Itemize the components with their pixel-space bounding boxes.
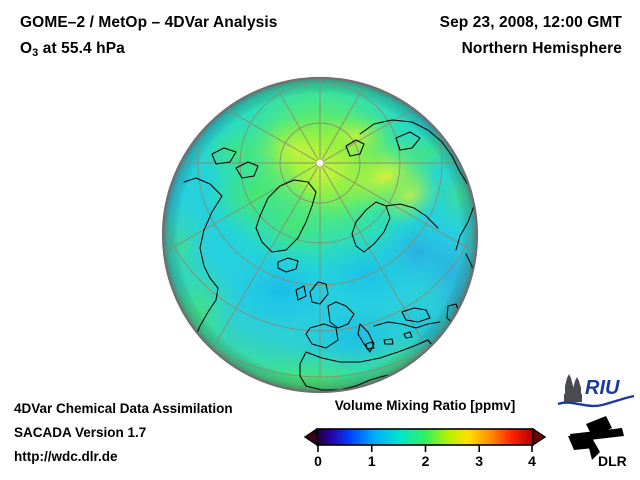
colorbar-tick-2: 2 [422, 453, 430, 468]
colorbar-tick-3: 3 [475, 453, 483, 468]
footer-line-assimilation: 4DVar Chemical Data Assimilation [14, 401, 233, 416]
cathedral-towers-icon [564, 374, 582, 402]
species-level: at 55.4 hPa [38, 40, 125, 57]
species-level-label: O3 at 55.4 hPa [20, 40, 125, 59]
footer-line-url[interactable]: http://wdc.dlr.de [14, 449, 118, 464]
colorbar-tick-4: 4 [528, 453, 536, 468]
colorbar-extend-low [305, 429, 317, 445]
dlr-logo: DLR [562, 414, 636, 470]
colorbar-title: Volume Mixing Ratio [ppmv] [300, 398, 550, 413]
north-pole-marker [317, 160, 324, 167]
colorbar-tick-1: 1 [368, 453, 376, 468]
footer-line-version: SACADA Version 1.7 [14, 425, 146, 440]
timestamp-label: Sep 23, 2008, 12:00 GMT [440, 14, 622, 32]
colorbar-tick-0: 0 [314, 453, 322, 468]
dlr-wordmark: DLR [598, 453, 627, 469]
page-title: GOME–2 / MetOp – 4DVar Analysis [20, 14, 278, 32]
colorbar-extend-high [533, 429, 545, 445]
species-symbol: O [20, 40, 32, 57]
riu-wordmark: RIU [585, 377, 620, 399]
globe-map [160, 76, 480, 396]
colorbar: Volume Mixing Ratio [ppmv] [300, 398, 550, 468]
riu-logo: RIU [556, 372, 636, 410]
region-label: Northern Hemisphere [462, 40, 622, 58]
colorbar-ticks [318, 445, 532, 452]
colorbar-gradient [317, 429, 533, 445]
